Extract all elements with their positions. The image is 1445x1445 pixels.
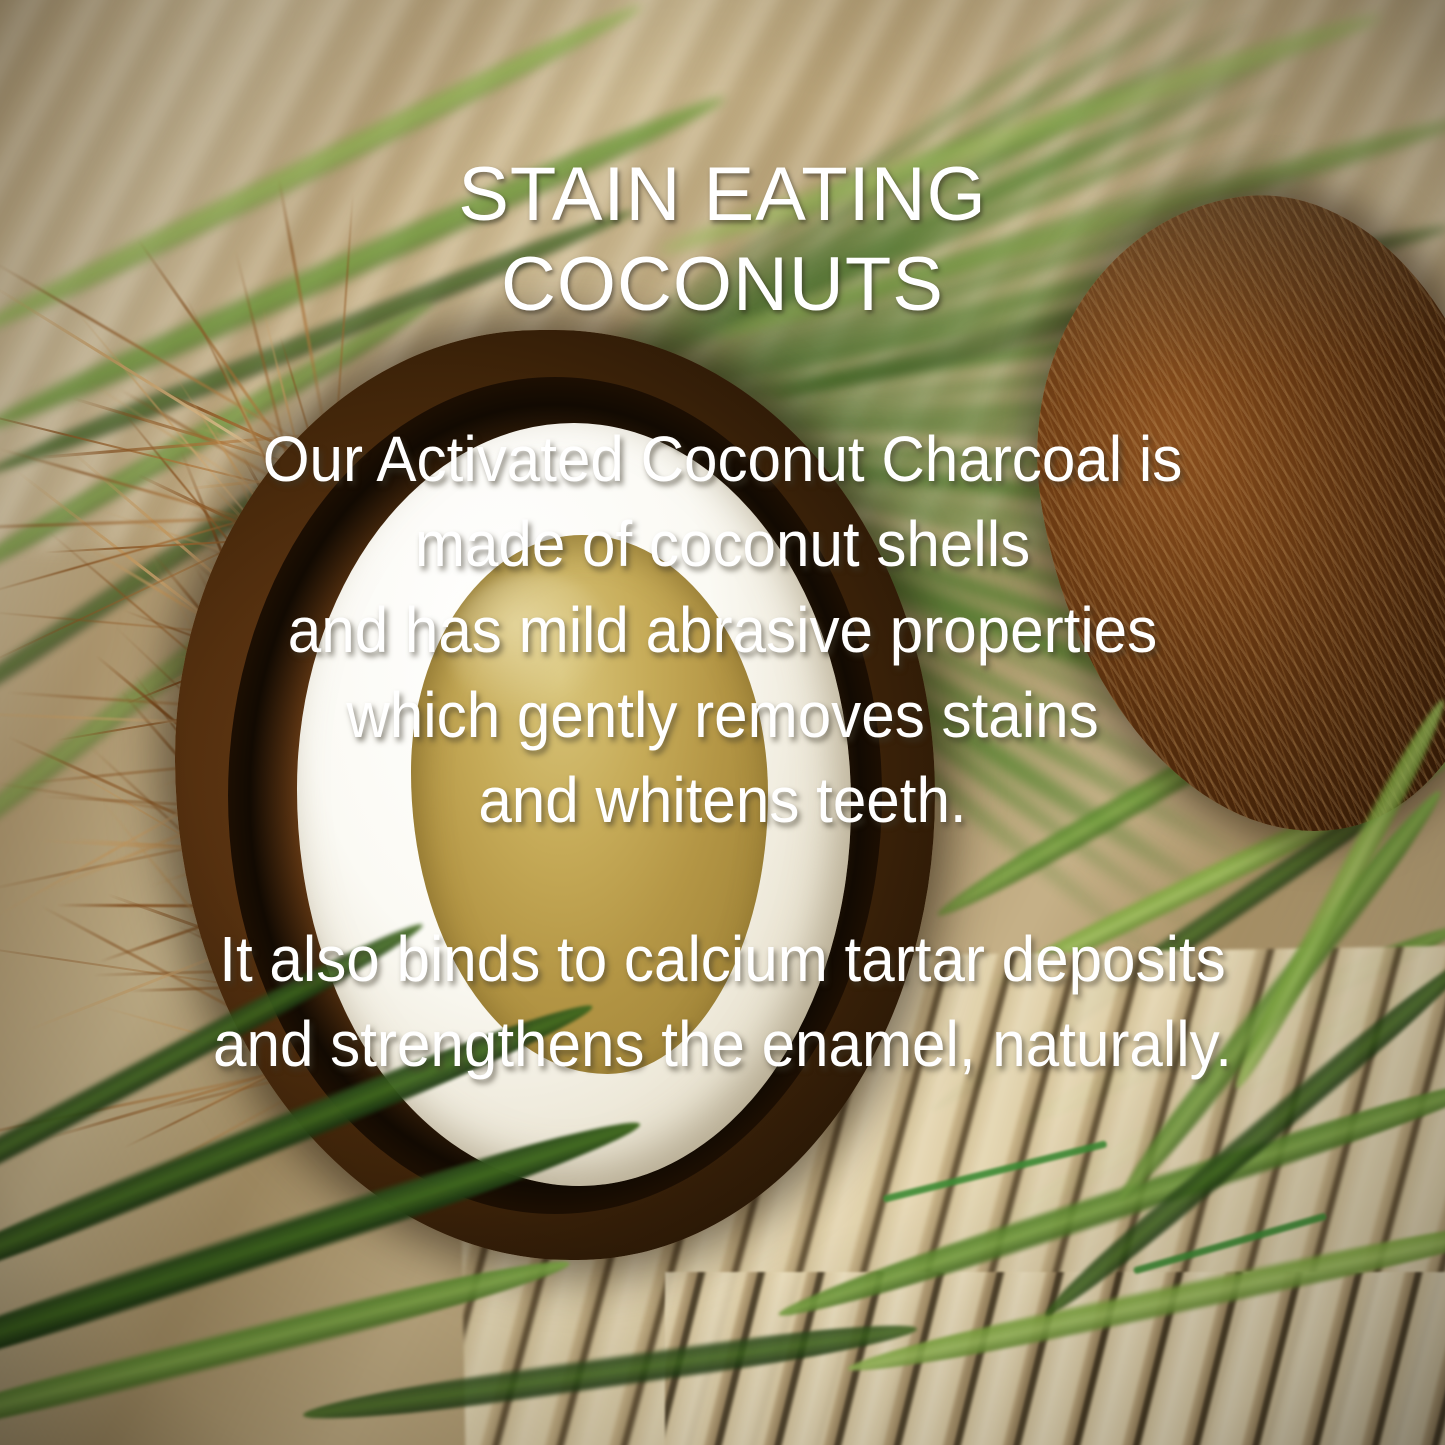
text-overlay: STAIN EATING COCONUTS Our Activated Coco… (0, 0, 1445, 1445)
body-paragraph-2: It also binds to calcium tartar deposits… (43, 917, 1401, 1087)
poster-image: STAIN EATING COCONUTS Our Activated Coco… (0, 0, 1445, 1445)
poster-body: Our Activated Coconut Charcoal is made o… (0, 417, 1445, 1087)
poster-title: STAIN EATING COCONUTS (0, 150, 1445, 329)
body-paragraph-1: Our Activated Coconut Charcoal is made o… (43, 417, 1401, 843)
